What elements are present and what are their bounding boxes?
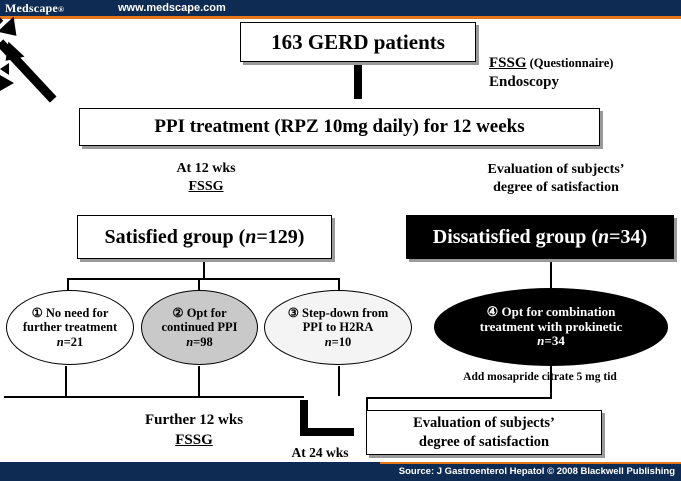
outcome-ellipse-2: ② Opt for continued PPI n=98 <box>141 290 258 365</box>
connector-outcomes-bottom-bar <box>4 396 304 398</box>
eval-top-line1: Evaluation of subjects’ <box>488 162 625 177</box>
arrow-into-bottom-eval-left <box>0 63 9 75</box>
connector-outcome-2-down <box>198 366 200 396</box>
elbow-arrow-head <box>0 75 14 91</box>
outcome-1-label: ① No need for further treatment n=21 <box>23 306 117 349</box>
circled-number-4-icon: ④ <box>487 304 499 319</box>
circled-number-2-icon: ② <box>172 306 183 320</box>
arrow-gerd-to-ppi-shaft <box>354 62 362 99</box>
fssg-underlined-label: FSSG <box>489 55 527 71</box>
outcome-ellipse-1: ① No need for further treatment n=21 <box>6 290 134 365</box>
box-dissatisfied-label: Dissatisfied group (n=34) <box>433 226 647 249</box>
medscape-logo: Medscape® <box>5 0 64 18</box>
outcome-3-label: ③ Step-down from PPI to H2RA n=10 <box>288 306 389 349</box>
fssg-questionnaire-label: (Questionnaire) <box>527 56 614 70</box>
box-gerd-patients: 163 GERD patients <box>240 22 476 62</box>
flowchart-canvas: Medscape® www.medscape.com 163 GERD pati… <box>0 0 681 481</box>
outcome-ellipse-4: ④ Opt for combination treatment with pro… <box>434 288 668 366</box>
outcome-ellipse-3: ③ Step-down from PPI to H2RA n=10 <box>264 290 412 365</box>
at-12-wks-fssg-label: FSSG <box>188 179 223 194</box>
registered-mark-icon: ® <box>58 5 64 14</box>
annotation-further-12-weeks: Further 12 wks FSSG <box>108 411 280 450</box>
further-12-wks-label: Further 12 wks <box>145 412 243 428</box>
annotation-at-24-weeks: At 24 wks <box>268 445 372 461</box>
annotation-mosapride: Add mosapride citrate 5 mg tid <box>424 371 656 383</box>
medscape-header: Medscape® www.medscape.com <box>0 0 681 19</box>
connector-outcome-3-down <box>338 366 340 396</box>
brand-name: Medscape <box>5 1 58 15</box>
outcome-2-label: ② Opt for continued PPI n=98 <box>161 306 237 349</box>
mosapride-label: Add mosapride citrate 5 mg tid <box>463 371 617 383</box>
circled-number-3-icon: ③ <box>288 306 299 320</box>
box-bottom-evaluation-label: Evaluation of subjects’ degree of satisf… <box>413 414 555 450</box>
footer-accent-bar <box>380 462 681 464</box>
box-satisfied-label: Satisfied group (n=129) <box>105 226 305 249</box>
box-dissatisfied-group: Dissatisfied group (n=34) <box>406 215 674 259</box>
medscape-footer: Source: J Gastroenterol Hepatol © 2008 B… <box>0 462 681 481</box>
connector-dissatisfied-stem <box>550 259 552 289</box>
connector-outcome-1-down <box>65 366 67 396</box>
source-citation: Source: J Gastroenterol Hepatol © 2008 B… <box>399 465 675 479</box>
annotation-fssg-endoscopy: FSSG (Questionnaire) Endoscopy <box>489 54 679 92</box>
annotation-at-12-weeks: At 12 wks FSSG <box>144 160 268 196</box>
box-bottom-evaluation: Evaluation of subjects’ degree of satisf… <box>366 410 602 455</box>
outcome-4-label: ④ Opt for combination treatment with pro… <box>480 305 623 349</box>
annotation-evaluation-satisfaction: Evaluation of subjects’ degree of satisf… <box>442 161 670 197</box>
circled-number-1-icon: ① <box>32 306 43 320</box>
connector-satisfied-bar <box>67 278 339 280</box>
further-fssg-label: FSSG <box>175 432 213 448</box>
connector-outcome-4-bar <box>366 397 552 399</box>
endoscopy-label: Endoscopy <box>489 74 559 90</box>
medscape-url: www.medscape.com <box>118 0 226 16</box>
at-24-wks-label: At 24 wks <box>291 445 348 460</box>
box-ppi-treatment: PPI treatment (RPZ 10mg daily) for 12 we… <box>79 108 600 146</box>
elbow-arrow-horizontal <box>300 428 354 436</box>
connector-satisfied-stem <box>203 259 205 279</box>
box-gerd-label: 163 GERD patients <box>271 30 445 55</box>
box-ppi-label: PPI treatment (RPZ 10mg daily) for 12 we… <box>154 116 524 138</box>
at-12-wks-label: At 12 wks <box>176 161 235 176</box>
eval-top-line2: degree of satisfaction <box>493 180 619 195</box>
box-satisfied-group: Satisfied group (n=129) <box>77 215 332 259</box>
